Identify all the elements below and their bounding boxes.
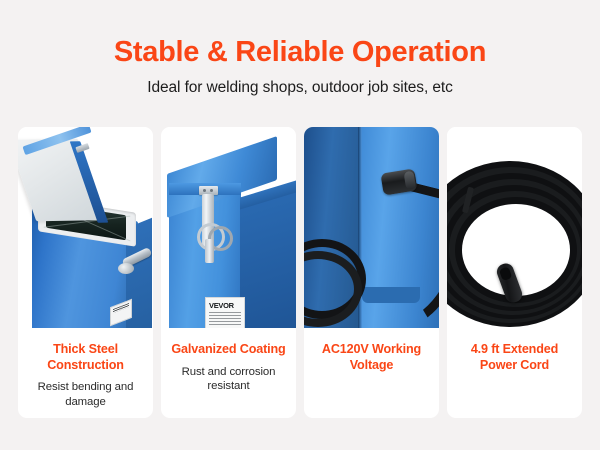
headline: Stable & Reliable Operation: [0, 38, 600, 67]
feature-card[interactable]: Thick Steel Construction Resist bending …: [18, 127, 153, 418]
card-subtitle: Resist bending and damage: [25, 380, 146, 409]
product-image-extended-power-cord: [447, 127, 582, 328]
card-caption: 4.9 ft Extended Power Cord: [447, 328, 582, 418]
card-title: AC120V Working Voltage: [311, 342, 432, 373]
brand-label: VEVOR: [205, 297, 245, 328]
banner-header: Stable & Reliable Operation Ideal for we…: [0, 0, 600, 96]
card-caption: Thick Steel Construction Resist bending …: [18, 328, 153, 418]
card-caption: AC120V Working Voltage: [304, 328, 439, 418]
feature-card-list: Thick Steel Construction Resist bending …: [18, 127, 582, 418]
product-feature-banner: Stable & Reliable Operation Ideal for we…: [0, 0, 600, 450]
subheadline: Ideal for welding shops, outdoor job sit…: [0, 80, 600, 96]
card-title: 4.9 ft Extended Power Cord: [454, 342, 575, 373]
card-title: Thick Steel Construction: [25, 342, 146, 373]
product-image-ac120v-working-voltage: [304, 127, 439, 328]
product-image-thick-steel-construction: [18, 127, 153, 328]
brand-label-text: VEVOR: [209, 301, 234, 310]
feature-card[interactable]: 4.9 ft Extended Power Cord: [447, 127, 582, 418]
card-caption: Galvanized Coating Rust and corrosion re…: [161, 328, 296, 418]
product-image-galvanized-coating: VEVOR: [161, 127, 296, 328]
card-subtitle: Rust and corrosion resistant: [168, 365, 289, 394]
feature-card[interactable]: AC120V Working Voltage: [304, 127, 439, 418]
feature-card[interactable]: VEVOR Galvanized Coating Rust and corros…: [161, 127, 296, 418]
card-title: Galvanized Coating: [168, 342, 289, 358]
